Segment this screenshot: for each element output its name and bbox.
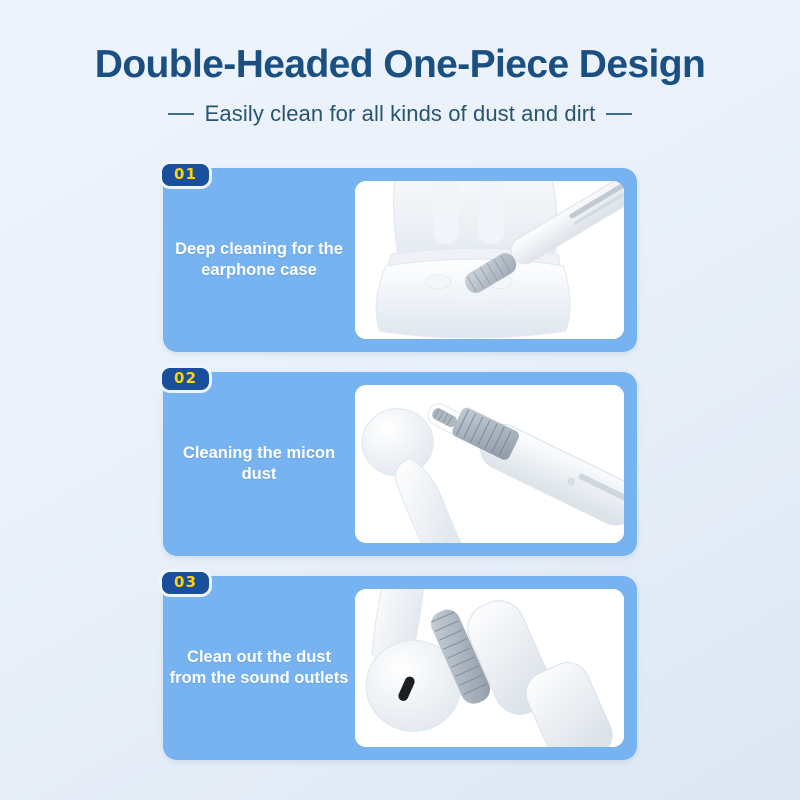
feature-card-photo (355, 385, 624, 543)
earphone-case-cleaning-illustration (355, 181, 624, 339)
step-number-badge: 02 (159, 365, 212, 393)
page-subtitle: Easily clean for all kinds of dust and d… (0, 101, 800, 127)
feature-card-caption: Deep cleaning for the earphone case (163, 239, 355, 280)
earbud-micon-cleaning-illustration (355, 385, 624, 543)
feature-card[interactable]: 01 Deep cleaning for the earphone case (163, 168, 637, 352)
step-number-badge: 01 (159, 161, 212, 189)
step-number-badge: 03 (159, 569, 212, 597)
feature-card-photo (355, 181, 624, 339)
page-header: Double-Headed One-Piece Design Easily cl… (0, 0, 800, 127)
feature-card[interactable]: 03 Clean out the dust from the sound out… (163, 576, 637, 760)
earbud-sound-outlet-cleaning-illustration (355, 589, 624, 747)
feature-card-list: 01 Deep cleaning for the earphone case (163, 168, 637, 780)
feature-card-caption: Cleaning the micon dust (163, 443, 355, 484)
em-dash-left-icon (168, 113, 194, 115)
feature-card-caption: Clean out the dust from the sound outlet… (163, 647, 355, 688)
page-subtitle-text: Easily clean for all kinds of dust and d… (205, 101, 596, 127)
em-dash-right-icon (606, 113, 632, 115)
feature-card-photo (355, 589, 624, 747)
page-title: Double-Headed One-Piece Design (0, 44, 800, 87)
feature-card[interactable]: 02 Cleaning the micon dust (163, 372, 637, 556)
